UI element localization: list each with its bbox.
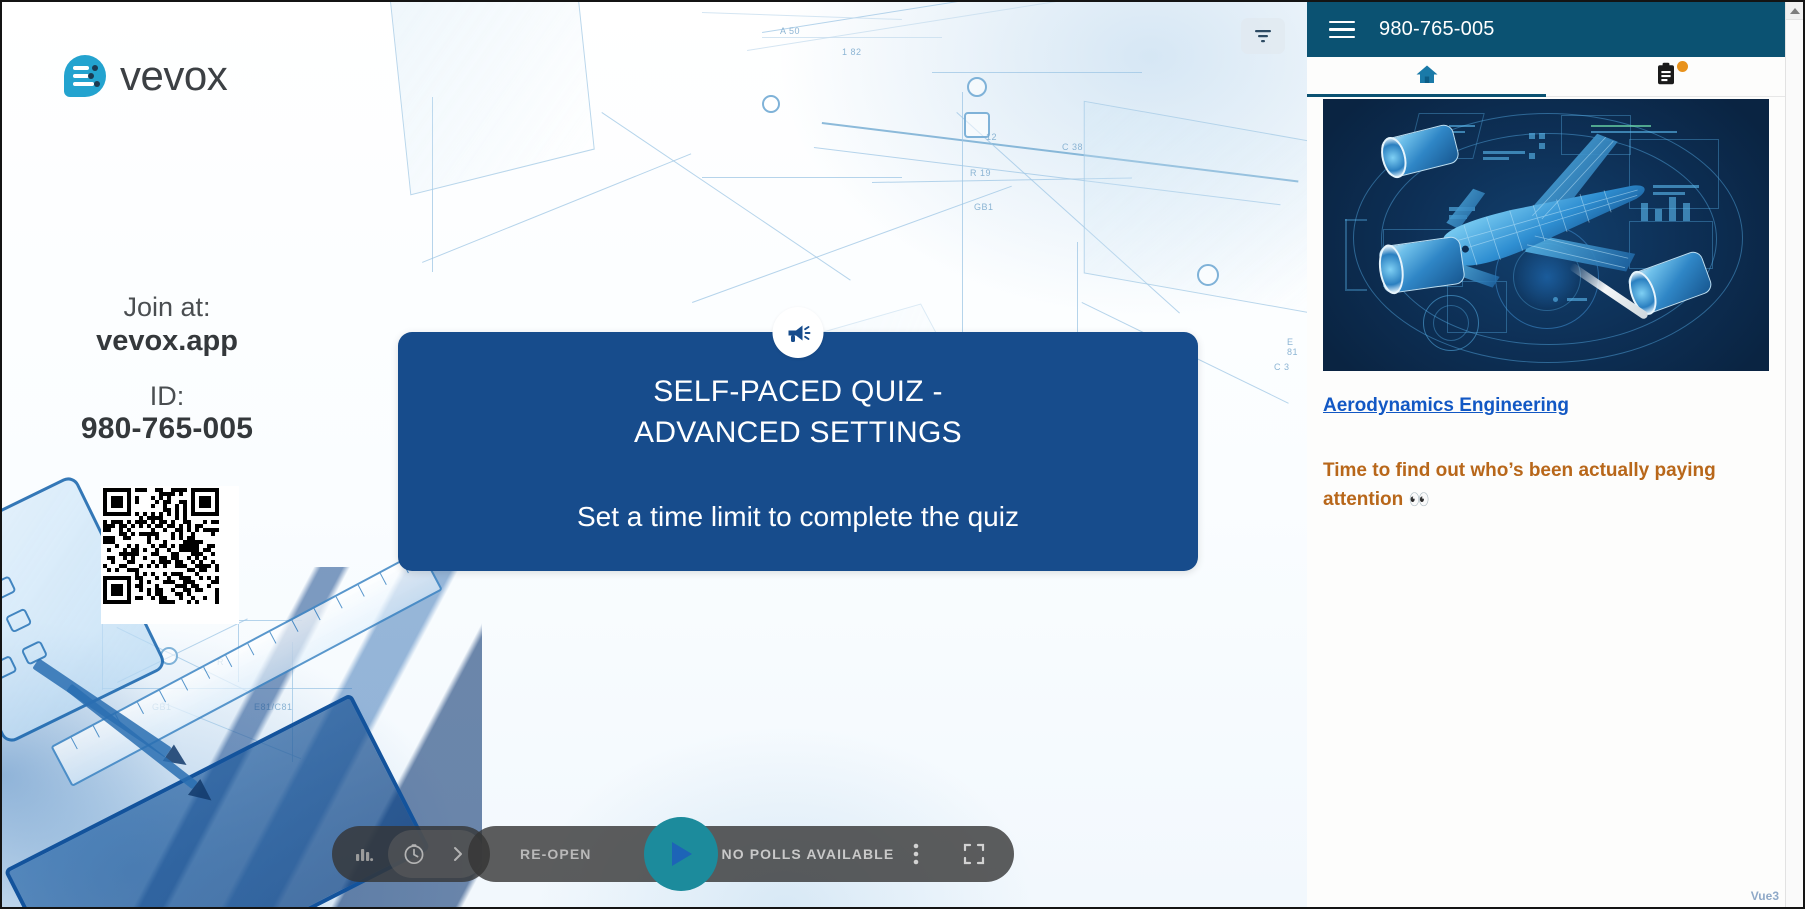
join-url: vevox.app: [2, 323, 332, 359]
bar-chart-icon[interactable]: [342, 832, 386, 876]
scroll-up-arrow-icon[interactable]: [1786, 2, 1803, 20]
megaphone-icon: [773, 307, 824, 358]
tab-survey[interactable]: [1546, 57, 1785, 96]
clock-icon[interactable]: [392, 832, 436, 876]
home-icon: [1415, 63, 1439, 90]
hero-description: Time to find out who’s been actually pay…: [1323, 457, 1769, 515]
panel-session-id: 980-765-005: [1379, 18, 1495, 41]
toolbar-left-group: [332, 826, 490, 882]
toolbar-right-group: [894, 832, 996, 876]
kebab-menu-icon[interactable]: [894, 832, 938, 876]
reopen-button[interactable]: RE-OPEN: [520, 846, 592, 862]
hamburger-menu-icon[interactable]: [1329, 16, 1355, 44]
session-id-value: 980-765-005: [2, 412, 332, 446]
toolbar-main-group: RE-OPEN NO POLLS AVAILABLE: [468, 826, 1014, 882]
vevox-logo: vevox: [64, 52, 227, 100]
aerodynamics-engineering-link[interactable]: Aerodynamics Engineering: [1323, 395, 1785, 417]
hero-description-text: Time to find out who’s been actually pay…: [1323, 460, 1716, 510]
panel-tab-bar: [1307, 57, 1785, 97]
announcement-body: Set a time limit to complete the quiz: [577, 499, 1019, 535]
presenter-toolbar: RE-OPEN NO POLLS AVAILABLE: [332, 826, 1014, 882]
filter-icon[interactable]: [1241, 18, 1285, 54]
session-id-label: ID:: [2, 381, 332, 412]
vevox-speech-bubble-icon: [64, 55, 106, 97]
survey-notification-badge: [1677, 61, 1688, 72]
vue-watermark: Vue3: [1751, 889, 1779, 903]
logo-wordmark: vevox: [120, 52, 227, 100]
aerodynamics-blueprint-image: [1323, 99, 1769, 371]
panel-header: 980-765-005: [1307, 2, 1785, 57]
participant-panel: 980-765-005: [1307, 2, 1785, 907]
announcement-card: SELF-PACED QUIZ - ADVANCED SETTINGS Set …: [398, 332, 1198, 571]
presentation-stage: A 50 1 82 12 C 38 R 19 GB1 C 3 E 81 GB1 …: [2, 2, 1307, 907]
fullscreen-icon[interactable]: [952, 832, 996, 876]
tab-home[interactable]: [1307, 57, 1546, 96]
announcement-title: SELF-PACED QUIZ - ADVANCED SETTINGS: [634, 372, 962, 453]
clipboard-icon: [1655, 62, 1677, 91]
poll-status-label: NO POLLS AVAILABLE: [722, 846, 895, 862]
app-window: A 50 1 82 12 C 38 R 19 GB1 C 3 E 81 GB1 …: [0, 0, 1805, 909]
join-at-label: Join at:: [2, 292, 332, 323]
play-icon[interactable]: [644, 817, 718, 891]
window-scrollbar[interactable]: [1785, 2, 1803, 907]
panel-content: Aerodynamics Engineering Time to find ou…: [1307, 97, 1785, 907]
eyes-emoji-icon: 👀: [1409, 490, 1430, 509]
join-instructions: Join at: vevox.app ID: 980-765-005: [2, 292, 332, 446]
join-qr-code[interactable]: [101, 486, 239, 624]
